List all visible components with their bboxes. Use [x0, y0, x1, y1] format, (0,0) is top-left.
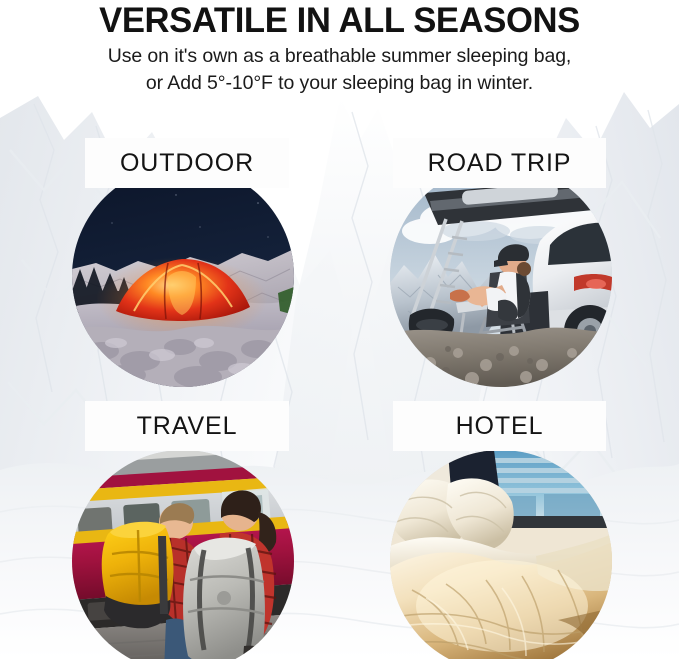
photo-red-tent-on-snow-at-night [72, 165, 294, 387]
label-travel-text: TRAVEL [137, 412, 238, 441]
label-hotel-text: HOTEL [456, 412, 544, 441]
photo-person-relaxing-by-car-with-rooftop-tent [390, 165, 612, 387]
subtitle-line-2: or Add 5°-10°F to your sleeping bag in w… [0, 70, 679, 97]
label-road-trip-text: ROAD TRIP [428, 149, 572, 178]
label-hotel: HOTEL [393, 401, 606, 451]
label-outdoor-text: OUTDOOR [120, 149, 254, 178]
subtitle-line-1: Use on it's own as a breathable summer s… [0, 38, 679, 70]
label-outdoor: OUTDOOR [85, 138, 289, 188]
page-title: VERSATILE IN ALL SEASONS [3, 0, 675, 38]
label-road-trip: ROAD TRIP [393, 138, 606, 188]
label-travel: TRAVEL [85, 401, 289, 451]
photo-sunlit-hotel-bed-by-window [390, 450, 612, 659]
header: VERSATILE IN ALL SEASONS Use on it's own… [0, 0, 679, 97]
photo-two-backpackers-boarding-train [72, 450, 294, 659]
promo-infographic: VERSATILE IN ALL SEASONS Use on it's own… [0, 0, 679, 659]
